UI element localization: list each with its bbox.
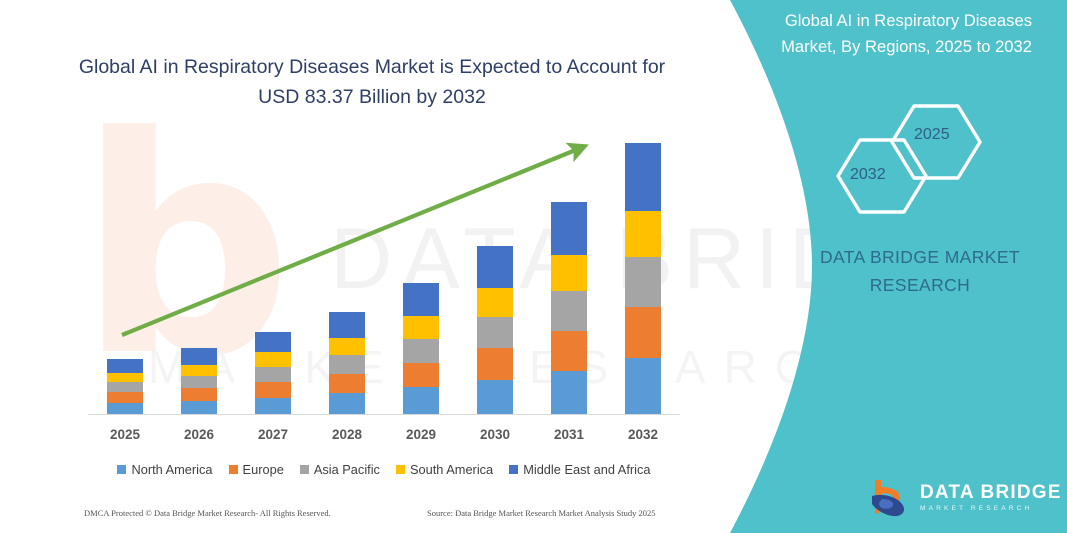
- legend-label: Middle East and Africa: [523, 462, 650, 477]
- legend-swatch-icon: [300, 465, 309, 474]
- hexagon-label-end: 2032: [850, 166, 886, 184]
- legend-swatch-icon: [509, 465, 518, 474]
- legend-label: South America: [410, 462, 493, 477]
- logo-main-text: DATA BRIDGE: [920, 483, 1062, 502]
- legend-item[interactable]: Middle East and Africa: [509, 462, 650, 477]
- x-axis-label: 2026: [169, 427, 229, 442]
- chart-legend: North AmericaEuropeAsia PacificSouth Ame…: [88, 459, 680, 479]
- hexagon-year-badges: 2025 2032: [818, 96, 1038, 216]
- footer-dmca-notice: DMCA Protected © Data Bridge Market Rese…: [84, 508, 331, 518]
- legend-label: Europe: [243, 462, 284, 477]
- logo-sub-text: MARKET RESEARCH: [920, 506, 1062, 513]
- chart-plot-area: [88, 123, 680, 415]
- x-axis-label: 2029: [391, 427, 451, 442]
- legend-label: Asia Pacific: [314, 462, 380, 477]
- company-logo: DATA BRIDGE MARKET RESEARCH: [868, 478, 1062, 518]
- legend-swatch-icon: [117, 465, 126, 474]
- x-axis-label: 2031: [539, 427, 599, 442]
- legend-item[interactable]: South America: [396, 462, 493, 477]
- footer-source-note: Source: Data Bridge Market Research Mark…: [427, 508, 656, 518]
- hexagon-label-start: 2025: [914, 126, 950, 144]
- stacked-bar-chart: [88, 120, 680, 415]
- x-axis-labels: 20252026202720282029203020312032: [88, 427, 680, 447]
- logo-text: DATA BRIDGE MARKET RESEARCH: [920, 483, 1062, 513]
- legend-item[interactable]: Europe: [229, 462, 284, 477]
- x-axis-label: 2030: [465, 427, 525, 442]
- logo-mark-icon: [868, 478, 912, 518]
- legend-item[interactable]: Asia Pacific: [300, 462, 380, 477]
- brand-name: DATA BRIDGE MARKET RESEARCH: [790, 243, 1050, 299]
- growth-arrow-annotation: [88, 123, 680, 415]
- legend-swatch-icon: [229, 465, 238, 474]
- infographic-canvas: b DATA BRIDGE MARKET RESEARCH Global AI …: [0, 0, 1067, 533]
- x-axis-label: 2027: [243, 427, 303, 442]
- legend-item[interactable]: North America: [117, 462, 212, 477]
- x-axis-label: 2028: [317, 427, 377, 442]
- panel-title: Global AI in Respiratory Diseases Market…: [752, 8, 1032, 60]
- legend-swatch-icon: [396, 465, 405, 474]
- footer: DMCA Protected © Data Bridge Market Rese…: [0, 508, 700, 526]
- page-title: Global AI in Respiratory Diseases Market…: [62, 52, 682, 112]
- x-axis-label: 2032: [613, 427, 673, 442]
- x-axis-label: 2025: [95, 427, 155, 442]
- legend-label: North America: [131, 462, 212, 477]
